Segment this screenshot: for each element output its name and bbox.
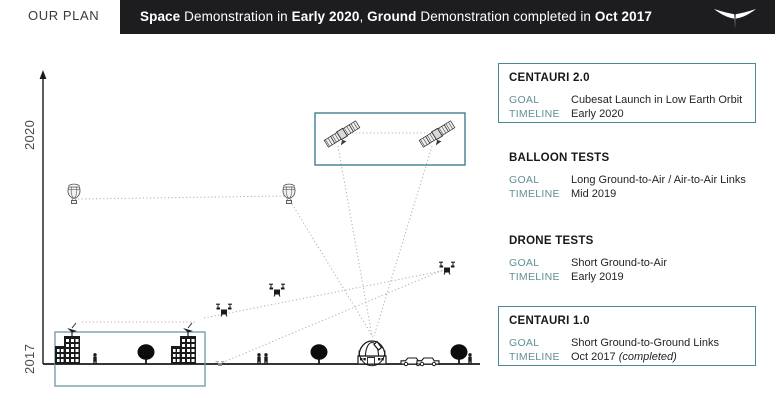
balloon-right (283, 184, 295, 203)
timeline-label: TIMELINE (509, 350, 571, 364)
card-row-goal: GOAL Long Ground-to-Air / Air-to-Air Lin… (509, 173, 746, 187)
page-kicker: OUR PLAN (28, 8, 99, 23)
card-row-goal: GOAL Cubesat Launch in Low Earth Orbit (509, 93, 745, 107)
communication-links (78, 133, 447, 364)
goal-value: Short Ground-to-Ground Links (571, 336, 719, 350)
person-mid-a (257, 353, 260, 364)
company-wing-logo (713, 5, 757, 29)
link-sat-left-to-observatory (338, 146, 372, 336)
goal-label: GOAL (509, 173, 571, 187)
card-row-timeline: TIMELINE Oct 2017 (completed) (509, 350, 745, 364)
building-left-with-antenna (55, 323, 80, 364)
card-title: CENTAURI 1.0 (509, 315, 745, 327)
goal-label: GOAL (509, 336, 571, 350)
card-row-goal: GOAL Short Ground-to-Ground Links (509, 336, 745, 350)
y-tick-2017: 2017 (22, 344, 37, 374)
card-row-timeline: TIMELINE Early 2020 (509, 107, 745, 121)
card-title: DRONE TESTS (509, 235, 746, 247)
chart-axes (40, 70, 480, 364)
drone-right (439, 262, 455, 274)
headline-bar: Space Demonstration in Early 2020, Groun… (120, 0, 775, 34)
goal-label: GOAL (509, 93, 571, 107)
card-rows: GOAL Long Ground-to-Air / Air-to-Air Lin… (509, 173, 746, 201)
title-seg-comma: , (359, 9, 367, 24)
card-row-goal: GOAL Short Ground-to-Air (509, 256, 746, 270)
link-balloon-right-to-observatory (292, 204, 373, 337)
page-title: Space Demonstration in Early 2020, Groun… (140, 9, 652, 24)
timeline-label: TIMELINE (509, 187, 571, 201)
satellite-left (324, 120, 363, 151)
link-balloon-to-balloon (78, 196, 285, 199)
y-tick-2020: 2020 (22, 120, 37, 150)
timeline-label: TIMELINE (509, 270, 571, 284)
link-sat-right-to-observatory (374, 146, 432, 336)
roadmap-illustration: 2020 2017 (0, 34, 495, 400)
title-seg-2: Demonstration completed in (417, 9, 595, 24)
card-row-timeline: TIMELINE Mid 2019 (509, 187, 746, 201)
observatory-dome (358, 341, 386, 366)
milestone-card-centauri-2[interactable]: CENTAURI 2.0 GOAL Cubesat Launch in Low … (498, 63, 756, 123)
tree-mid (311, 344, 328, 364)
title-seg-1: Demonstration in (180, 9, 291, 24)
timeline-value: Early 2019 (571, 270, 624, 284)
tree-left (138, 344, 155, 364)
link-drone-ground-to-drone-right (219, 270, 443, 364)
title-seg-oct2017: Oct 2017 (595, 9, 652, 24)
goal-label: GOAL (509, 256, 571, 270)
card-title: BALLOON TESTS (509, 152, 746, 164)
goal-value: Long Ground-to-Air / Air-to-Air Links (571, 173, 746, 187)
roadmap-svg (0, 34, 495, 400)
milestone-card-centauri-1[interactable]: CENTAURI 1.0 GOAL Short Ground-to-Ground… (498, 306, 756, 366)
goal-value: Short Ground-to-Air (571, 256, 667, 270)
timeline-label: TIMELINE (509, 107, 571, 121)
link-drone-chain (204, 270, 447, 318)
balloon-left (68, 184, 80, 203)
goal-value: Cubesat Launch in Low Earth Orbit (571, 93, 742, 107)
timeline-note: (completed) (619, 351, 677, 363)
car-right (417, 358, 439, 366)
card-title: CENTAURI 2.0 (509, 72, 745, 84)
milestone-card-balloon-tests[interactable]: BALLOON TESTS GOAL Long Ground-to-Air / … (498, 144, 756, 202)
milestone-card-drone-tests[interactable]: DRONE TESTS GOAL Short Ground-to-Air TIM… (498, 227, 756, 285)
building-right-with-antenna (171, 323, 196, 364)
person-right (468, 353, 471, 364)
person-mid-b (264, 353, 267, 364)
timeline-value: Oct 2017 (completed) (571, 350, 677, 364)
drone-mid (269, 284, 285, 296)
timeline-value: Early 2020 (571, 107, 624, 121)
card-rows: GOAL Cubesat Launch in Low Earth Orbit T… (509, 93, 745, 121)
card-row-timeline: TIMELINE Early 2019 (509, 270, 746, 284)
title-seg-ground: Ground (367, 9, 416, 24)
timeline-value: Mid 2019 (571, 187, 616, 201)
card-rows: GOAL Short Ground-to-Ground Links TIMELI… (509, 336, 745, 364)
satellite-right (419, 120, 458, 151)
card-rows: GOAL Short Ground-to-Air TIMELINE Early … (509, 256, 746, 284)
tree-right (451, 344, 468, 364)
title-seg-early2020: Early 2020 (292, 9, 360, 24)
title-seg-space: Space (140, 9, 180, 24)
person-left (93, 353, 96, 364)
page-header: OUR PLAN Space Demonstration in Early 20… (0, 0, 775, 34)
